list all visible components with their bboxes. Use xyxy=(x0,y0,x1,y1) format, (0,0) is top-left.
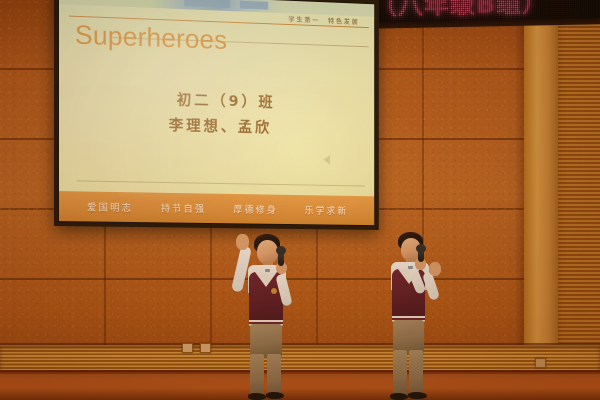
chrome-blip-a xyxy=(184,0,230,8)
auditorium-scene: （八年级B组） 学生第一 特色发展 Superheroes 初二（9）班 李理想… xyxy=(0,0,600,400)
wall-outlet xyxy=(182,343,193,353)
left-presenter-vest-vneck xyxy=(255,272,277,287)
motto-item-4: 乐学求新 xyxy=(305,203,349,217)
wall-switch xyxy=(200,343,211,353)
right-presenter-shoe-left xyxy=(390,393,408,400)
wall-pillar xyxy=(524,0,558,372)
right-presenter-pants xyxy=(393,320,424,354)
presenter-left xyxy=(224,228,302,400)
left-presenter-shoe-right xyxy=(266,392,284,399)
chrome-blip-b xyxy=(240,1,268,10)
slide-body: 初二（9）班 李理想、孟欣 xyxy=(59,83,374,142)
right-presenter-leg-left xyxy=(393,350,407,398)
motto-item-3: 厚德修身 xyxy=(233,202,277,216)
right-presenter-leg-right xyxy=(409,350,423,398)
left-presenter-microphone-head xyxy=(276,246,286,255)
motto-item-2: 持节自强 xyxy=(161,201,206,215)
presenter-right xyxy=(382,224,454,400)
wall-outlet-right xyxy=(535,358,546,368)
slide-canvas: 学生第一 特色发展 Superheroes 初二（9）班 李理想、孟欣 爱国明志… xyxy=(59,0,374,225)
slide-motto-band: 爱国明志 持节自强 厚德修身 乐学求新 xyxy=(59,191,374,225)
left-presenter-raised-hand xyxy=(236,234,249,250)
left-presenter-shoe-left xyxy=(248,393,266,400)
left-presenter-school-badge xyxy=(271,288,277,294)
left-presenter-leg-left xyxy=(250,354,264,398)
projection-screen: 学生第一 特色发展 Superheroes 初二（9）班 李理想、孟欣 爱国明志… xyxy=(54,0,379,230)
left-presenter-pants xyxy=(250,324,282,358)
right-presenter-gesture-hand xyxy=(429,262,441,276)
right-wall-slats xyxy=(556,0,600,372)
motto-item-1: 爱国明志 xyxy=(87,200,133,215)
right-presenter-microphone-head xyxy=(416,244,426,253)
right-presenter-shoe-right xyxy=(408,392,427,399)
slide-nav-arrow-icon[interactable] xyxy=(323,155,330,165)
slide-footer-rule xyxy=(77,180,365,186)
slide-title: Superheroes xyxy=(75,20,227,56)
